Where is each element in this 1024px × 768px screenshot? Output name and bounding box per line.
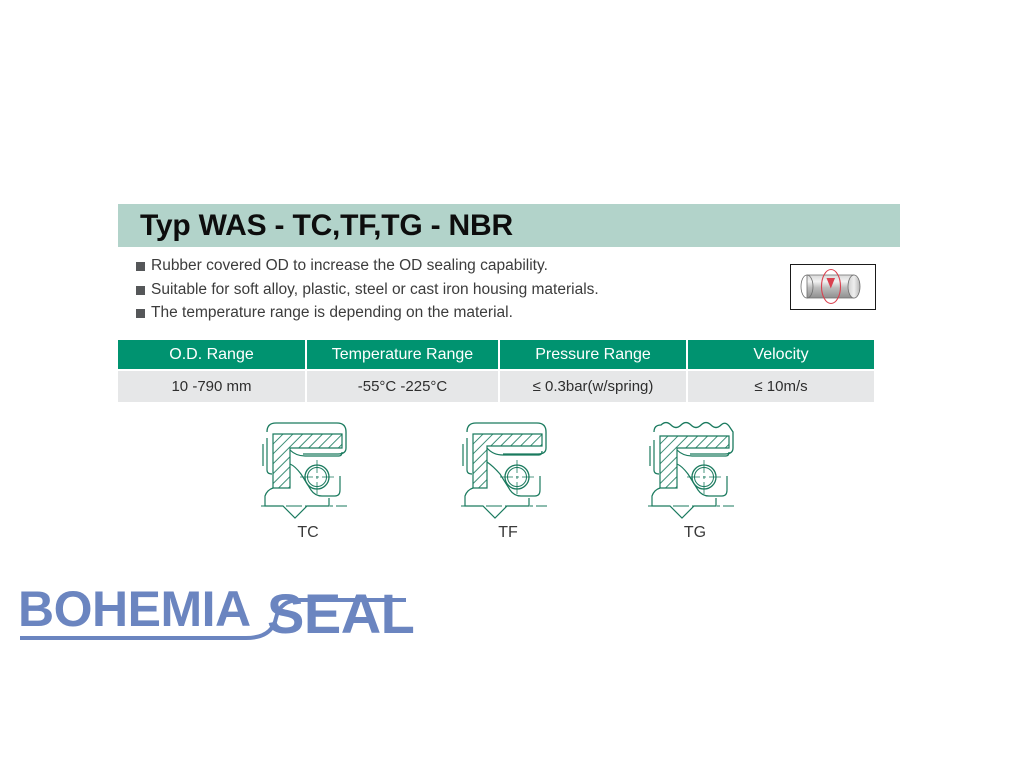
cell-od-range: 10 -790 mm [118, 371, 305, 402]
list-item: The temperature range is depending on th… [136, 303, 776, 322]
logo-text-seal: SEAL [267, 582, 414, 645]
column-header-velocity: Velocity [688, 340, 874, 369]
feature-text: Suitable for soft alloy, plastic, steel … [151, 280, 599, 299]
square-bullet-icon [136, 286, 145, 295]
page-canvas: Typ WAS - TC,TF,TG - NBR Rubber covered … [0, 0, 1024, 768]
feature-text: Rubber covered OD to increase the OD sea… [151, 256, 548, 275]
cell-velocity: ≤ 10m/s [688, 371, 874, 402]
seal-diagram-group: TC [118, 414, 908, 549]
logo-text-bohemia: BOHEMIA [18, 581, 251, 637]
seal-label-tg: TG [615, 524, 775, 542]
feature-text: The temperature range is depending on th… [151, 303, 513, 322]
seal-label-tc: TC [228, 524, 388, 542]
column-header-pressure-range: Pressure Range [500, 340, 686, 369]
page-title: Typ WAS - TC,TF,TG - NBR [118, 209, 513, 243]
title-banner: Typ WAS - TC,TF,TG - NBR [118, 204, 900, 247]
feature-list: Rubber covered OD to increase the OD sea… [136, 256, 776, 327]
list-item: Suitable for soft alloy, plastic, steel … [136, 280, 776, 299]
seal-diagram-tf: TF [428, 414, 588, 542]
rotating-shaft-icon [790, 264, 876, 310]
cell-pressure-range: ≤ 0.3bar(w/spring) [500, 371, 686, 402]
seal-label-tf: TF [428, 524, 588, 542]
list-item: Rubber covered OD to increase the OD sea… [136, 256, 776, 275]
table-header-row: O.D. Range Temperature Range Pressure Ra… [118, 340, 876, 369]
seal-diagram-tc: TC [228, 414, 388, 542]
seal-diagram-tg: TG [615, 414, 775, 542]
column-header-od-range: O.D. Range [118, 340, 305, 369]
column-header-temperature-range: Temperature Range [307, 340, 498, 369]
square-bullet-icon [136, 262, 145, 271]
brand-logo: BOHEMIA SEAL [14, 578, 414, 648]
specification-table: O.D. Range Temperature Range Pressure Ra… [118, 340, 876, 402]
table-row: 10 -790 mm -55°C -225°C ≤ 0.3bar(w/sprin… [118, 371, 876, 402]
cell-temperature-range: -55°C -225°C [307, 371, 498, 402]
square-bullet-icon [136, 309, 145, 318]
